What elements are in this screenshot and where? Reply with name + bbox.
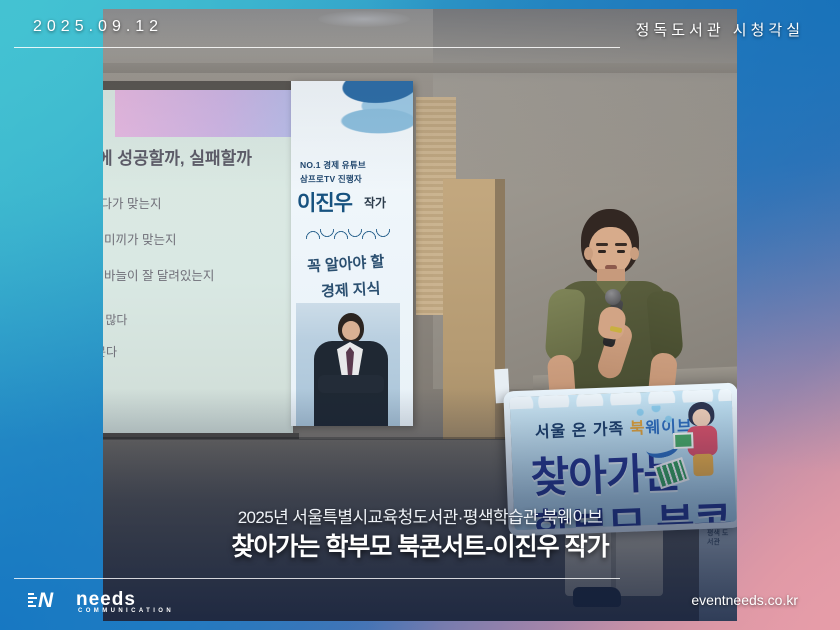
slide-bullet: 문다 [103, 343, 117, 360]
header-divider [14, 47, 620, 48]
bubble-dots-decor [634, 405, 675, 437]
logo-tagline: COMMUNICATION [78, 608, 174, 614]
wood-door-panel [443, 179, 495, 479]
needs-logo[interactable]: N needs COMMUNICATION [28, 588, 208, 614]
wave-graphic-secondary [331, 105, 413, 145]
wavy-divider [305, 229, 397, 239]
banner-speaker-role: 작가 [364, 194, 386, 211]
portrait-folded-arms [318, 375, 384, 393]
slide-title: 에 성공할까, 실패할까 [103, 144, 252, 169]
logo-n-mark-icon: N [28, 589, 74, 611]
event-subtitle: 2025년 서울특별시교육청도서관·평색학습관 북웨이브 [0, 503, 840, 528]
speaker-eye-left [598, 250, 606, 253]
banner-speaker-portrait [296, 303, 400, 426]
slide-text: 에 성공할까, 실패할까 아다가 맞는지 는 미끼가 맞는지 며 바늘이 잘 달… [103, 89, 293, 437]
banner-line2: 삼프로TV 진행자 [300, 173, 362, 185]
poster-frame: 에 성공할까, 실패할까 아다가 맞는지 는 미끼가 맞는지 며 바늘이 잘 달… [0, 0, 840, 630]
ceiling-light [318, 11, 410, 27]
banner-handwritten-line2: 경제 지식 [320, 277, 380, 301]
banner-speaker-name: 이진우 [297, 187, 352, 217]
speaker-ear-right [630, 247, 639, 260]
portrait-face [342, 321, 360, 340]
girl-legs [693, 454, 714, 477]
speaker-ear-left [584, 247, 593, 260]
logo-letter-n: N [38, 589, 52, 613]
speaker-eye-right [617, 250, 625, 253]
girl-illustration [678, 401, 725, 479]
girl-book [673, 432, 694, 449]
slide-bullet: 는 미끼가 맞는지 [103, 229, 176, 248]
door-edge [495, 179, 505, 479]
screen-frame-top [103, 81, 298, 90]
speaker-eyebrow-left [596, 243, 608, 246]
projection-screen: 에 성공할까, 실패할까 아다가 맞는지 는 미끼가 맞는지 며 바늘이 잘 달… [103, 89, 293, 437]
event-title: 찾아가는 학부모 북콘서트-이진우 작가 [0, 527, 840, 563]
slide-bullet: 아다가 맞는지 [103, 193, 161, 212]
slide-bullet: 며 바늘이 잘 달려있는지 [103, 265, 214, 284]
sign-line1-part1: 서울 온 가족 [535, 421, 631, 442]
banner-handwritten-line1: 꼭 알아야 할 [306, 250, 385, 276]
speaker-sleeve-left [544, 288, 585, 364]
speaker-sleeve-right [646, 290, 684, 363]
banner-line1: NO.1 경제 유튜브 [300, 159, 366, 171]
footer-divider [14, 578, 620, 579]
speaker-eyebrow-right [615, 243, 627, 246]
rollup-banner: NO.1 경제 유튜브 삼프로TV 진행자 이진우 작가 꼭 알아야 할 경제 … [291, 81, 413, 426]
slide-bullet: 가 많다 [103, 311, 127, 328]
speaker-shoe [573, 587, 621, 607]
website-url[interactable]: eventneeds.co.kr [691, 592, 798, 608]
ceiling-strip [103, 63, 737, 73]
